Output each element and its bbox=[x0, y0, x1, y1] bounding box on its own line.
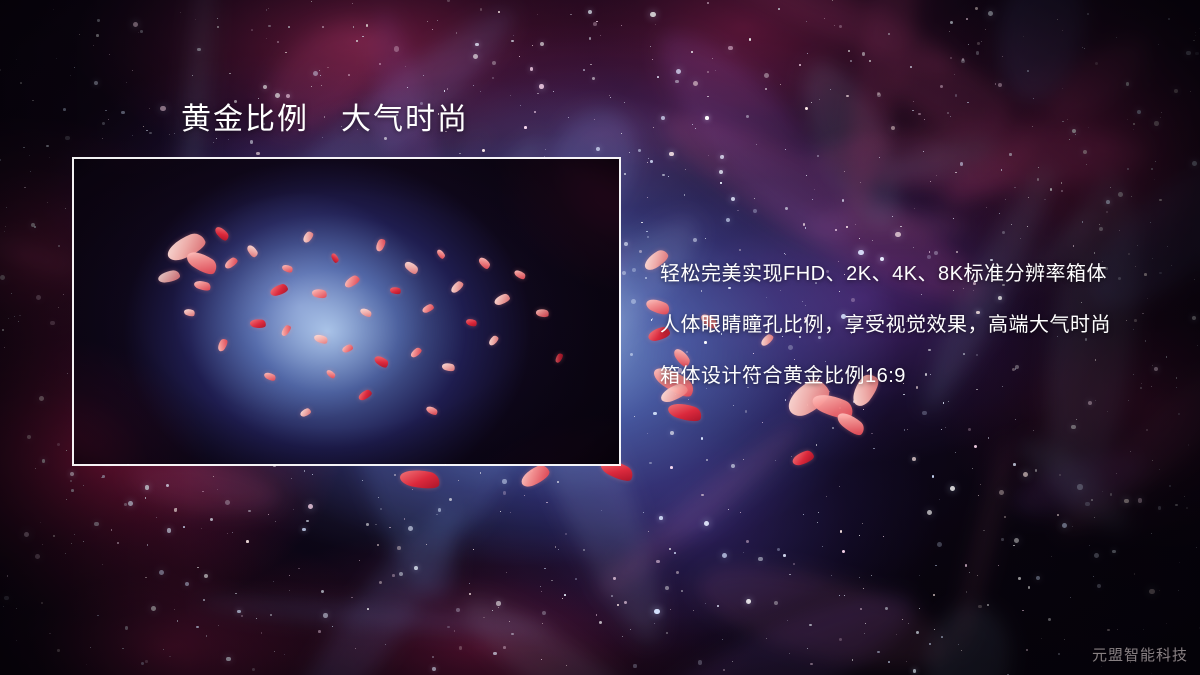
framed-vignette bbox=[74, 159, 619, 464]
body-line-3: 箱体设计符合黄金比例16:9 bbox=[660, 359, 1180, 388]
petal bbox=[518, 463, 552, 490]
framed-image bbox=[72, 157, 621, 466]
petal bbox=[810, 388, 857, 423]
petal bbox=[791, 449, 815, 467]
body-line-2: 人体眼睛瞳孔比例，享受视觉效果，高端大气时尚 bbox=[660, 308, 1180, 337]
watermark: 元盟智能科技 bbox=[1092, 644, 1188, 665]
body-line-1: 轻松完美实现FHD、2K、4K、8K标准分辨率箱体 bbox=[660, 257, 1180, 286]
slide-canvas: 黄金比例 大气时尚 轻松完美实现FHD、2K、4K、8K标准分辨率箱体 人体眼睛… bbox=[0, 0, 1200, 675]
body-copy: 轻松完美实现FHD、2K、4K、8K标准分辨率箱体 人体眼睛瞳孔比例，享受视觉效… bbox=[660, 257, 1180, 388]
framed-image-content bbox=[74, 159, 619, 464]
petal bbox=[666, 399, 703, 425]
petal bbox=[835, 408, 868, 439]
page-title: 黄金比例 大气时尚 bbox=[181, 101, 469, 139]
petal bbox=[399, 466, 442, 492]
